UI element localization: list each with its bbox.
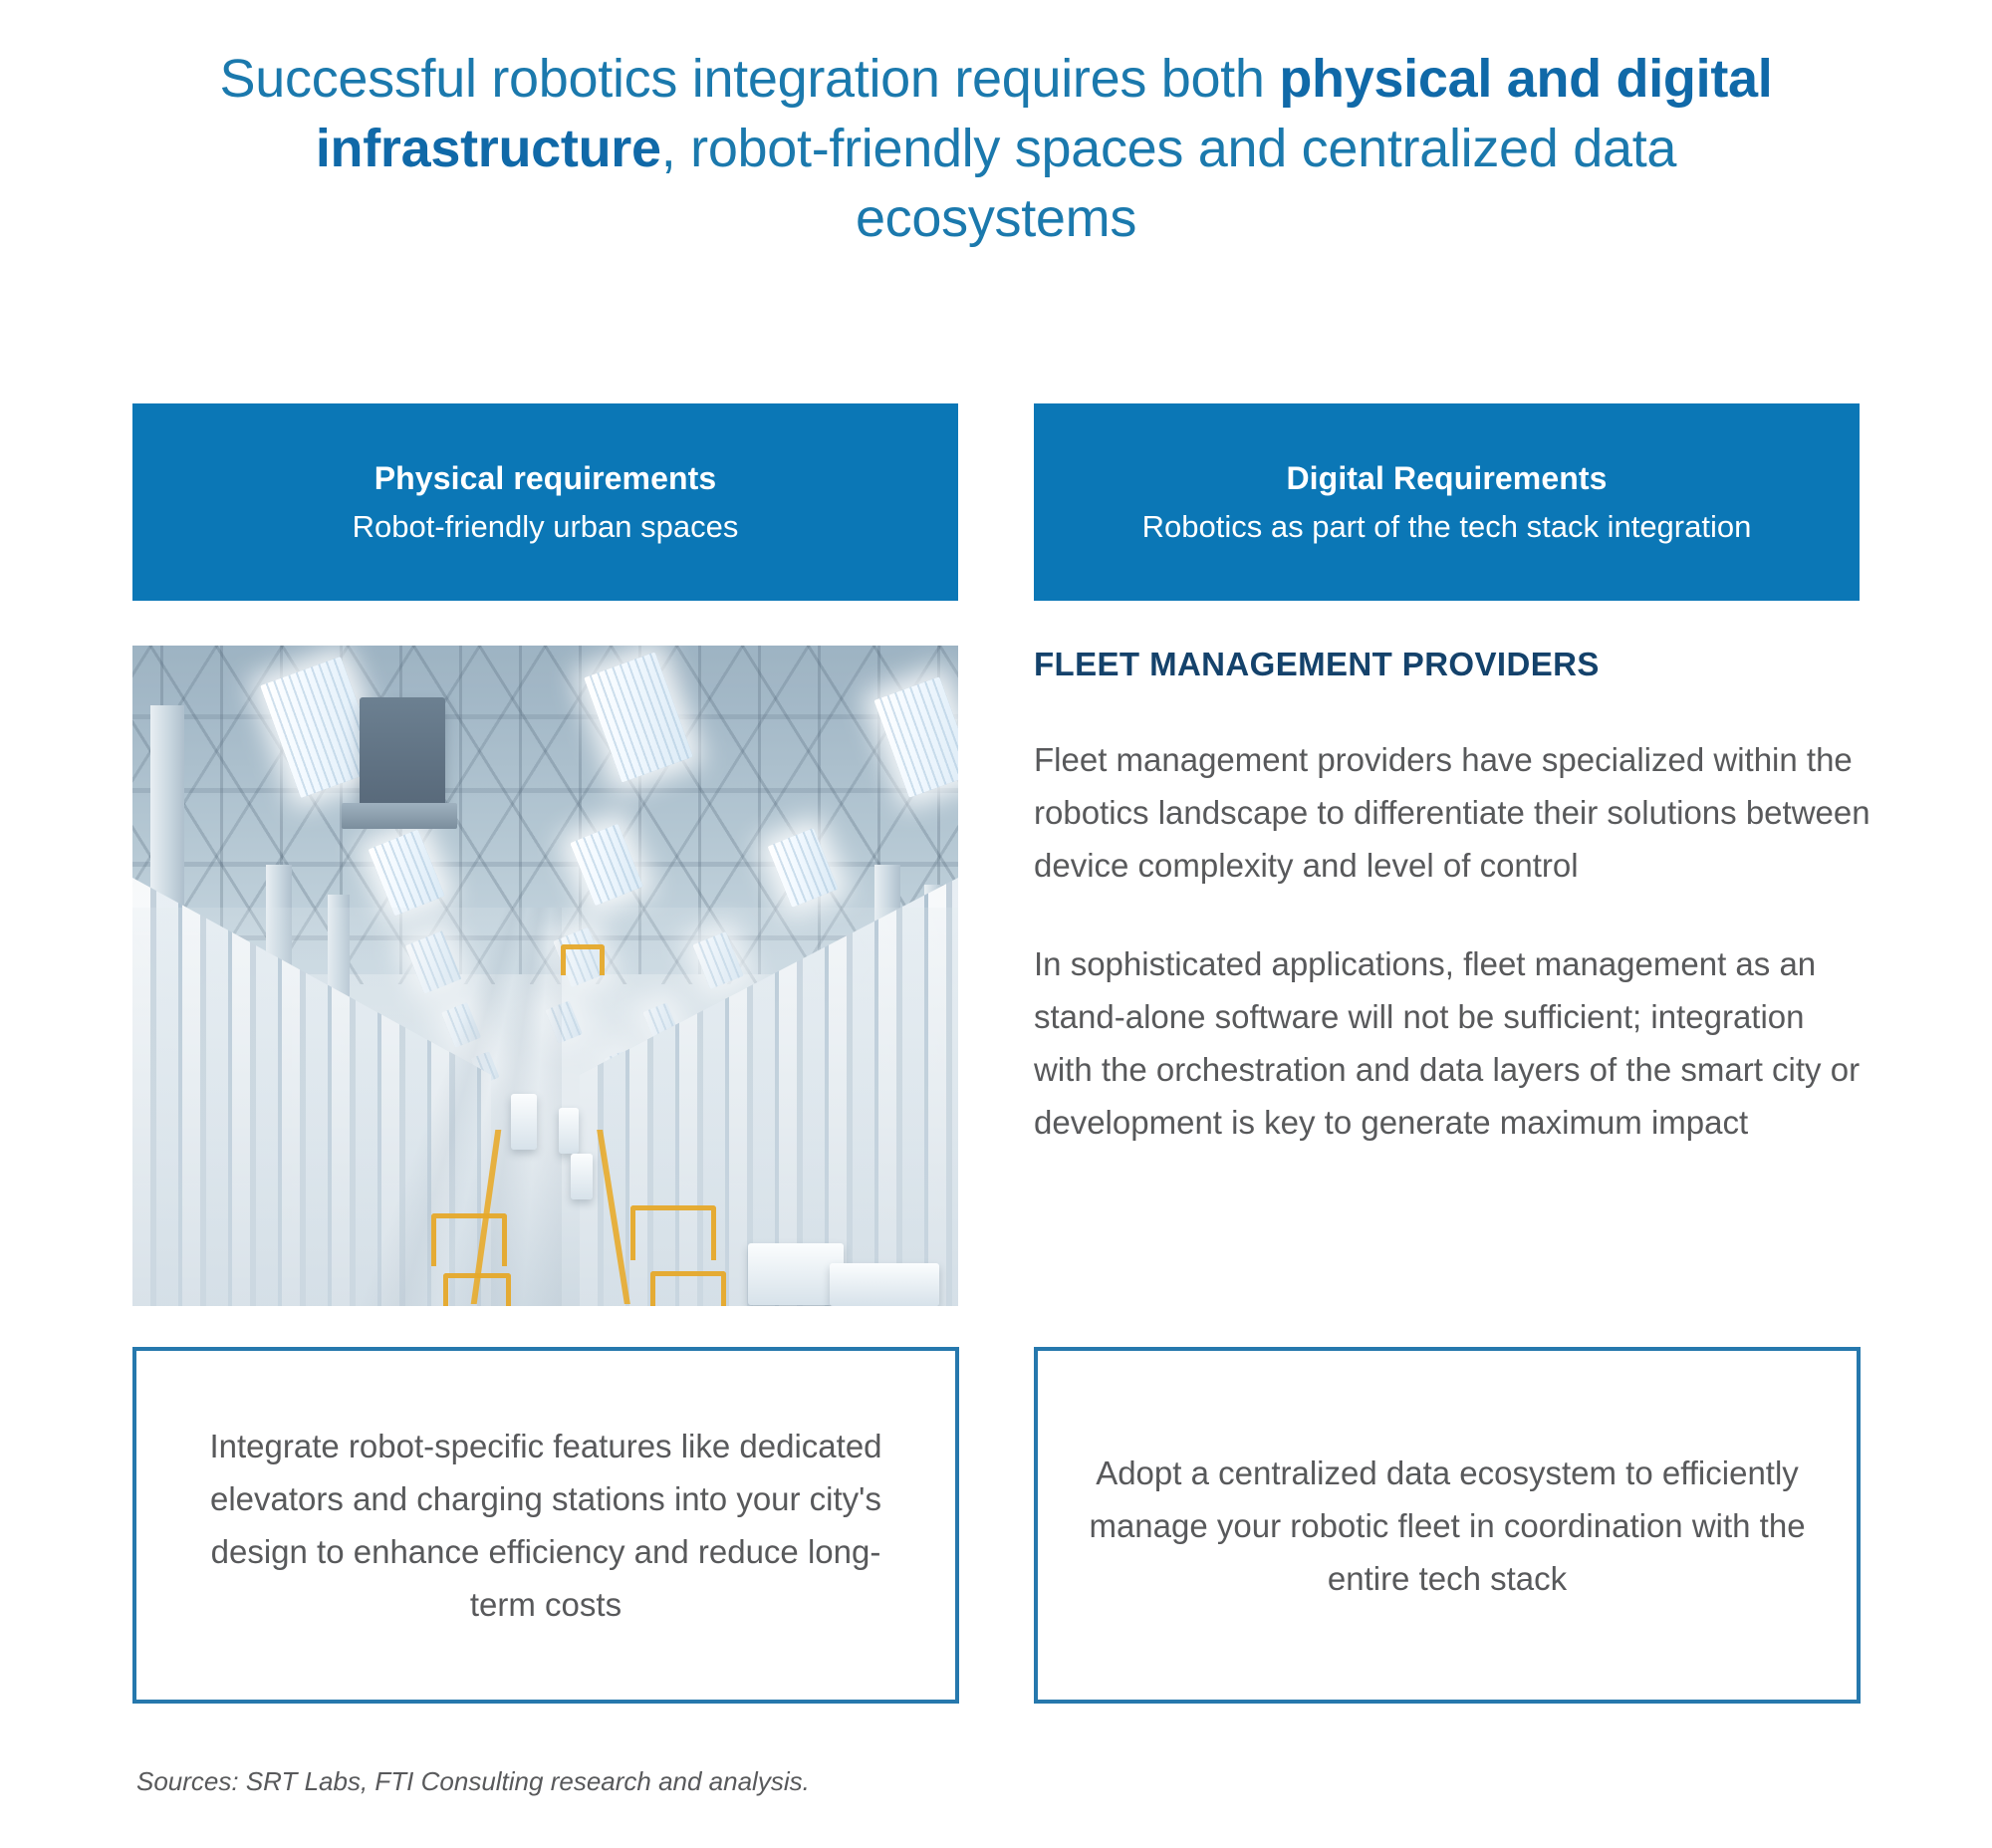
digital-paragraph-2: In sophisticated applications, fleet man… [1034,937,1870,1149]
photo-safety-guard [443,1273,511,1306]
panel-header-title-physical: Physical requirements [374,457,717,499]
callout-text-digital: Adopt a centralized data ecosystem to ef… [1080,1447,1815,1605]
photo-safety-guard [650,1271,726,1306]
callout-box-physical: Integrate robot-specific features like d… [132,1347,959,1704]
panel-physical: Physical requirements Robot-friendly urb… [132,403,958,601]
panel-header-physical: Physical requirements Robot-friendly urb… [132,403,958,601]
digital-paragraph-1: Fleet management providers have speciali… [1034,733,1870,892]
photo-safety-guard [561,944,605,975]
factory-interior-photo [132,646,958,1306]
panel-header-subtitle-physical: Robot-friendly urban spaces [353,507,739,547]
fleet-management-heading: FLEET MANAGEMENT PROVIDERS [1034,646,1870,683]
photo-safety-guard [630,1205,716,1260]
digital-requirements-body: FLEET MANAGEMENT PROVIDERS Fleet managem… [1034,646,1870,1194]
panel-header-title-digital: Digital Requirements [1286,457,1607,499]
callout-text-physical: Integrate robot-specific features like d… [178,1420,913,1631]
panel-digital: Digital Requirements Robotics as part of… [1034,403,1860,601]
photo-agv-robot [830,1263,939,1306]
photo-safety-guard [431,1213,507,1266]
source-note: Sources: SRT Labs, FTI Consulting resear… [136,1766,810,1797]
photo-agv-robot [571,1154,593,1199]
page-title: Successful robotics integration requires… [179,44,1813,253]
page-title-part1: Successful robotics integration requires… [220,49,1280,109]
panel-header-subtitle-digital: Robotics as part of the tech stack integ… [1142,507,1752,547]
page-title-part2: , robot-friendly spaces and centralized … [661,119,1676,248]
photo-agv-robot [511,1094,537,1150]
photo-agv-robot [559,1108,579,1154]
photo-hvac-unit [360,697,445,807]
callout-box-digital: Adopt a centralized data ecosystem to ef… [1034,1347,1861,1704]
panel-header-digital: Digital Requirements Robotics as part of… [1034,403,1860,601]
